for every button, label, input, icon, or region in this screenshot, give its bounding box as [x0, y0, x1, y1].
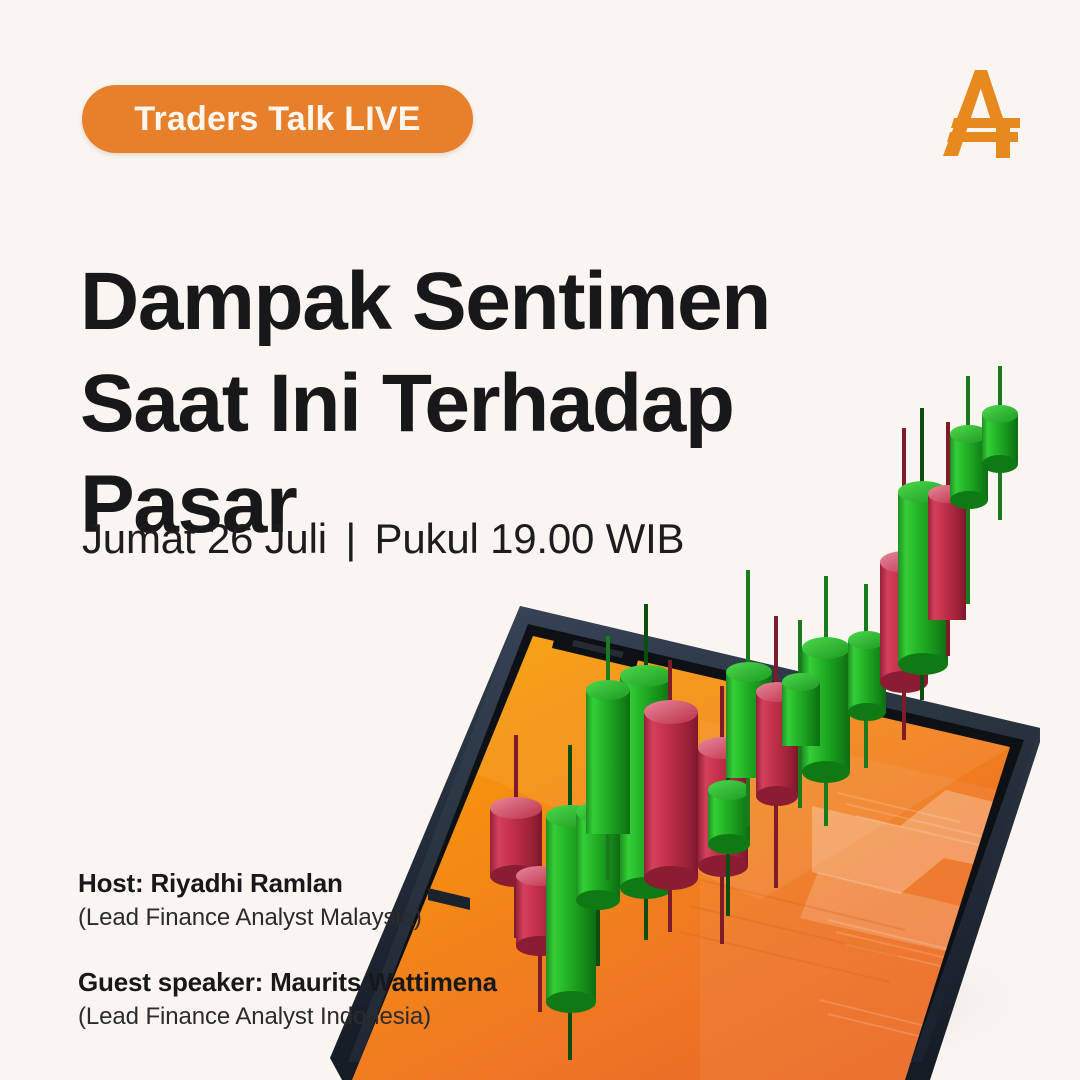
event-date: Jumat 26 Juli [82, 515, 327, 562]
speakers-block: Host: Riyadhi Ramlan (Lead Finance Analy… [78, 866, 638, 1033]
letter-a-currency-logo-icon [932, 62, 1032, 162]
host-name: Host: Riyadhi Ramlan [78, 866, 638, 901]
live-badge: Traders Talk LIVE [82, 85, 473, 153]
host-role: (Lead Finance Analyst Malaysia) [78, 901, 638, 935]
brand-logo [932, 62, 1032, 162]
event-schedule: Jumat 26 Juli | Pukul 19.00 WIB [82, 514, 684, 564]
guest-speaker-role: (Lead Finance Analyst Indonesia) [78, 1000, 638, 1034]
page-title: Dampak Sentimen Saat Ini Terhadap Pasar [80, 251, 840, 556]
guest-speaker-name: Guest speaker: Maurits Wattimena [78, 965, 638, 1000]
event-time: Pukul 19.00 WIB [375, 515, 685, 562]
schedule-separator: | [338, 514, 363, 564]
guest-speaker-entry: Guest speaker: Maurits Wattimena (Lead F… [78, 965, 638, 1034]
host-entry: Host: Riyadhi Ramlan (Lead Finance Analy… [78, 866, 638, 935]
live-badge-label: Traders Talk LIVE [134, 102, 420, 136]
poster-canvas: Traders Talk LIVE Dampak Sentimen Saat I… [0, 0, 1080, 1080]
headline-line-2: Saat Ini Terhadap [80, 353, 840, 455]
headline-line-1: Dampak Sentimen [80, 251, 840, 353]
